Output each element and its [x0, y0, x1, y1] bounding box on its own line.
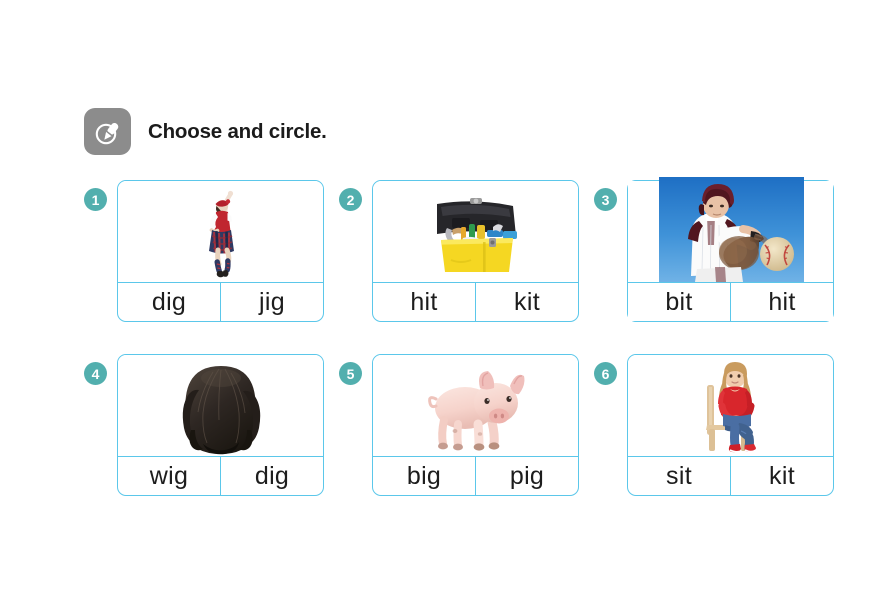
exercise-row: 1 [84, 180, 844, 322]
word-option[interactable]: bit [628, 283, 730, 321]
exercise-item-5: 5 [339, 354, 594, 496]
word-options: big pig [373, 456, 578, 495]
word-option[interactable]: hit [373, 283, 475, 321]
exercise-item-1: 1 [84, 180, 339, 322]
item-number-badge: 3 [594, 188, 617, 211]
word-option[interactable]: jig [220, 283, 323, 321]
item-picture [118, 355, 323, 456]
exercise-row: 4 [84, 354, 844, 496]
item-picture [118, 181, 323, 282]
item-card[interactable]: dig jig [117, 180, 324, 322]
girl-sitting-image [689, 361, 773, 456]
word-options: sit kit [628, 456, 833, 495]
item-picture [628, 355, 833, 456]
item-picture [373, 355, 578, 456]
item-picture [628, 181, 833, 282]
item-card[interactable]: big pig [372, 354, 579, 496]
item-card[interactable]: hit kit [372, 180, 579, 322]
item-number-badge: 4 [84, 362, 107, 385]
word-options: hit kit [373, 282, 578, 321]
word-option[interactable]: kit [475, 283, 578, 321]
item-card[interactable]: sit kit [627, 354, 834, 496]
pencil-circle-icon [84, 108, 131, 155]
word-option[interactable]: sit [628, 457, 730, 495]
piglet-image [420, 368, 532, 456]
word-options: wig dig [118, 456, 323, 495]
word-option[interactable]: kit [730, 457, 833, 495]
item-number-badge: 1 [84, 188, 107, 211]
word-option[interactable]: pig [475, 457, 578, 495]
word-options: dig jig [118, 282, 323, 321]
word-option[interactable]: hit [730, 283, 833, 321]
item-picture [373, 181, 578, 282]
exercise-grid: 1 [84, 180, 844, 496]
word-option[interactable]: big [373, 457, 475, 495]
baseball-batter-image [659, 177, 804, 282]
exercise-item-3: 3 [594, 180, 849, 322]
highland-dancer-image [186, 186, 256, 282]
page-title: Choose and circle. [148, 120, 327, 144]
toolbox-image [417, 194, 535, 282]
exercise-item-2: 2 [339, 180, 594, 322]
wig-image [169, 364, 273, 456]
item-card[interactable]: bit hit [627, 180, 834, 322]
exercise-item-4: 4 [84, 354, 339, 496]
word-option[interactable]: wig [118, 457, 220, 495]
item-number-badge: 5 [339, 362, 362, 385]
word-option[interactable]: dig [118, 283, 220, 321]
word-option[interactable]: dig [220, 457, 323, 495]
item-number-badge: 2 [339, 188, 362, 211]
word-options: bit hit [628, 282, 833, 321]
exercise-item-6: 6 [594, 354, 849, 496]
item-number-badge: 6 [594, 362, 617, 385]
task-header: Choose and circle. [84, 108, 327, 155]
item-card[interactable]: wig dig [117, 354, 324, 496]
